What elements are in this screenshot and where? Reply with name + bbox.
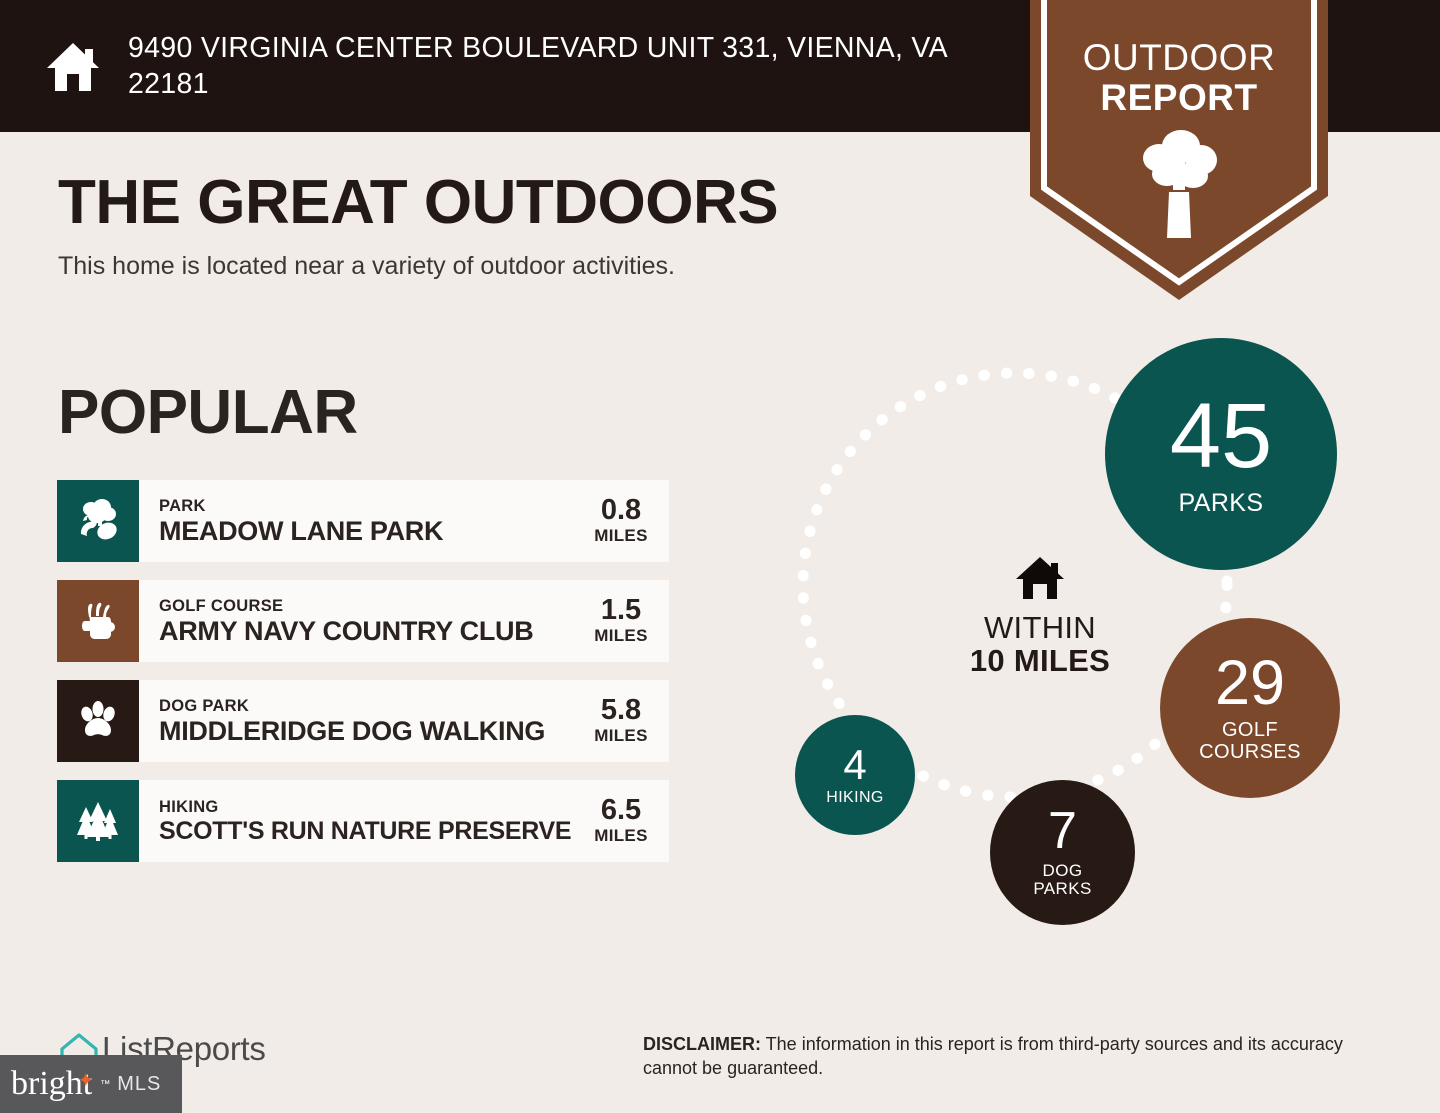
stat-label: DOG PARKS <box>1024 862 1102 899</box>
bright-mls-label: MLS <box>117 1073 161 1096</box>
poi-distance-value: 1.5 <box>587 596 655 626</box>
poi-distance: 1.5 MILES <box>579 596 655 646</box>
stat-value: 45 <box>1170 391 1272 481</box>
golf-bag-icon <box>57 580 139 662</box>
poi-name: SCOTT'S RUN NATURE PRESERVE <box>159 818 579 845</box>
center-line-2: 10 MILES <box>940 644 1140 677</box>
diagram-center: WITHIN 10 MILES <box>940 555 1140 678</box>
poi-distance: 5.8 MILES <box>579 696 655 746</box>
star-icon: ✦ <box>77 1071 94 1091</box>
poi-text: DOG PARK MIDDLERIDGE DOG WALKING <box>159 690 579 752</box>
property-address: 9490 VIRGINIA CENTER BOULEVARD UNIT 331,… <box>128 30 1008 103</box>
stat-value: 4 <box>843 744 866 785</box>
stat-circle-parks[interactable]: 45 PARKS <box>1105 338 1337 570</box>
poi-distance-unit: MILES <box>587 726 655 746</box>
stat-circle-hiking[interactable]: 4 HIKING <box>795 715 915 835</box>
paw-print-icon <box>57 680 139 762</box>
stat-circle-golf-courses[interactable]: 29 GOLF COURSES <box>1160 618 1340 798</box>
poi-name: MIDDLERIDGE DOG WALKING <box>159 717 579 746</box>
poi-category: PARK <box>159 496 579 517</box>
page-title: THE GREAT OUTDOORS <box>58 172 778 234</box>
poi-distance-value: 0.8 <box>587 496 655 526</box>
bright-mls-watermark: bright✦ ™ MLS <box>0 1055 182 1113</box>
poi-body: PARK MEADOW LANE PARK 0.8 MILES <box>139 480 669 562</box>
poi-body: DOG PARK MIDDLERIDGE DOG WALKING 5.8 MIL… <box>139 680 669 762</box>
poi-name: MEADOW LANE PARK <box>159 517 579 546</box>
list-item[interactable]: GOLF COURSE ARMY NAVY COUNTRY CLUB 1.5 M… <box>57 580 669 662</box>
home-icon <box>940 555 1140 601</box>
poi-text: HIKING SCOTT'S RUN NATURE PRESERVE <box>159 790 579 852</box>
park-tree-trail-icon <box>57 480 139 562</box>
list-item[interactable]: HIKING SCOTT'S RUN NATURE PRESERVE 6.5 M… <box>57 780 669 862</box>
stat-circle-dog-parks[interactable]: 7 DOG PARKS <box>990 780 1135 925</box>
poi-name: ARMY NAVY COUNTRY CLUB <box>159 617 579 646</box>
poi-category: GOLF COURSE <box>159 596 579 617</box>
poi-distance-value: 6.5 <box>587 796 655 826</box>
stat-label: HIKING <box>826 789 884 806</box>
popular-heading: POPULAR <box>58 382 358 444</box>
stat-label: GOLF COURSES <box>1195 720 1305 763</box>
poi-distance-unit: MILES <box>587 526 655 546</box>
poi-distance-unit: MILES <box>587 626 655 646</box>
bright-mls-brand: bright✦ <box>11 1067 92 1101</box>
poi-distance-unit: MILES <box>587 826 655 846</box>
poi-body: GOLF COURSE ARMY NAVY COUNTRY CLUB 1.5 M… <box>139 580 669 662</box>
page-subtitle: This home is located near a variety of o… <box>58 252 778 281</box>
list-item[interactable]: PARK MEADOW LANE PARK 0.8 MILES <box>57 480 669 562</box>
poi-distance: 0.8 MILES <box>579 496 655 546</box>
poi-distance-value: 5.8 <box>587 696 655 726</box>
poi-distance: 6.5 MILES <box>579 796 655 846</box>
poi-body: HIKING SCOTT'S RUN NATURE PRESERVE 6.5 M… <box>139 780 669 862</box>
disclaimer-label: DISCLAIMER: <box>643 1034 761 1054</box>
poi-category: DOG PARK <box>159 696 579 717</box>
poi-text: GOLF COURSE ARMY NAVY COUNTRY CLUB <box>159 590 579 652</box>
disclaimer: DISCLAIMER: The information in this repo… <box>643 1032 1393 1081</box>
outdoor-report-badge: OUTDOOR REPORT <box>1030 0 1328 300</box>
poi-text: PARK MEADOW LANE PARK <box>159 490 579 552</box>
stat-value: 29 <box>1215 653 1285 715</box>
pine-trees-icon <box>57 780 139 862</box>
home-icon <box>44 38 102 96</box>
within-10-miles-diagram: 45 PARKS 29 GOLF COURSES 7 DOG PARKS 4 H… <box>740 330 1380 970</box>
center-line-1: WITHIN <box>940 611 1140 644</box>
popular-poi-list: PARK MEADOW LANE PARK 0.8 MILES <box>57 480 669 880</box>
title-section: THE GREAT OUTDOORS This home is located … <box>58 172 778 281</box>
stat-value: 7 <box>1048 806 1077 857</box>
stat-label: PARKS <box>1179 490 1264 517</box>
list-item[interactable]: DOG PARK MIDDLERIDGE DOG WALKING 5.8 MIL… <box>57 680 669 762</box>
trademark-symbol: ™ <box>100 1079 110 1090</box>
poi-category: HIKING <box>159 797 579 818</box>
